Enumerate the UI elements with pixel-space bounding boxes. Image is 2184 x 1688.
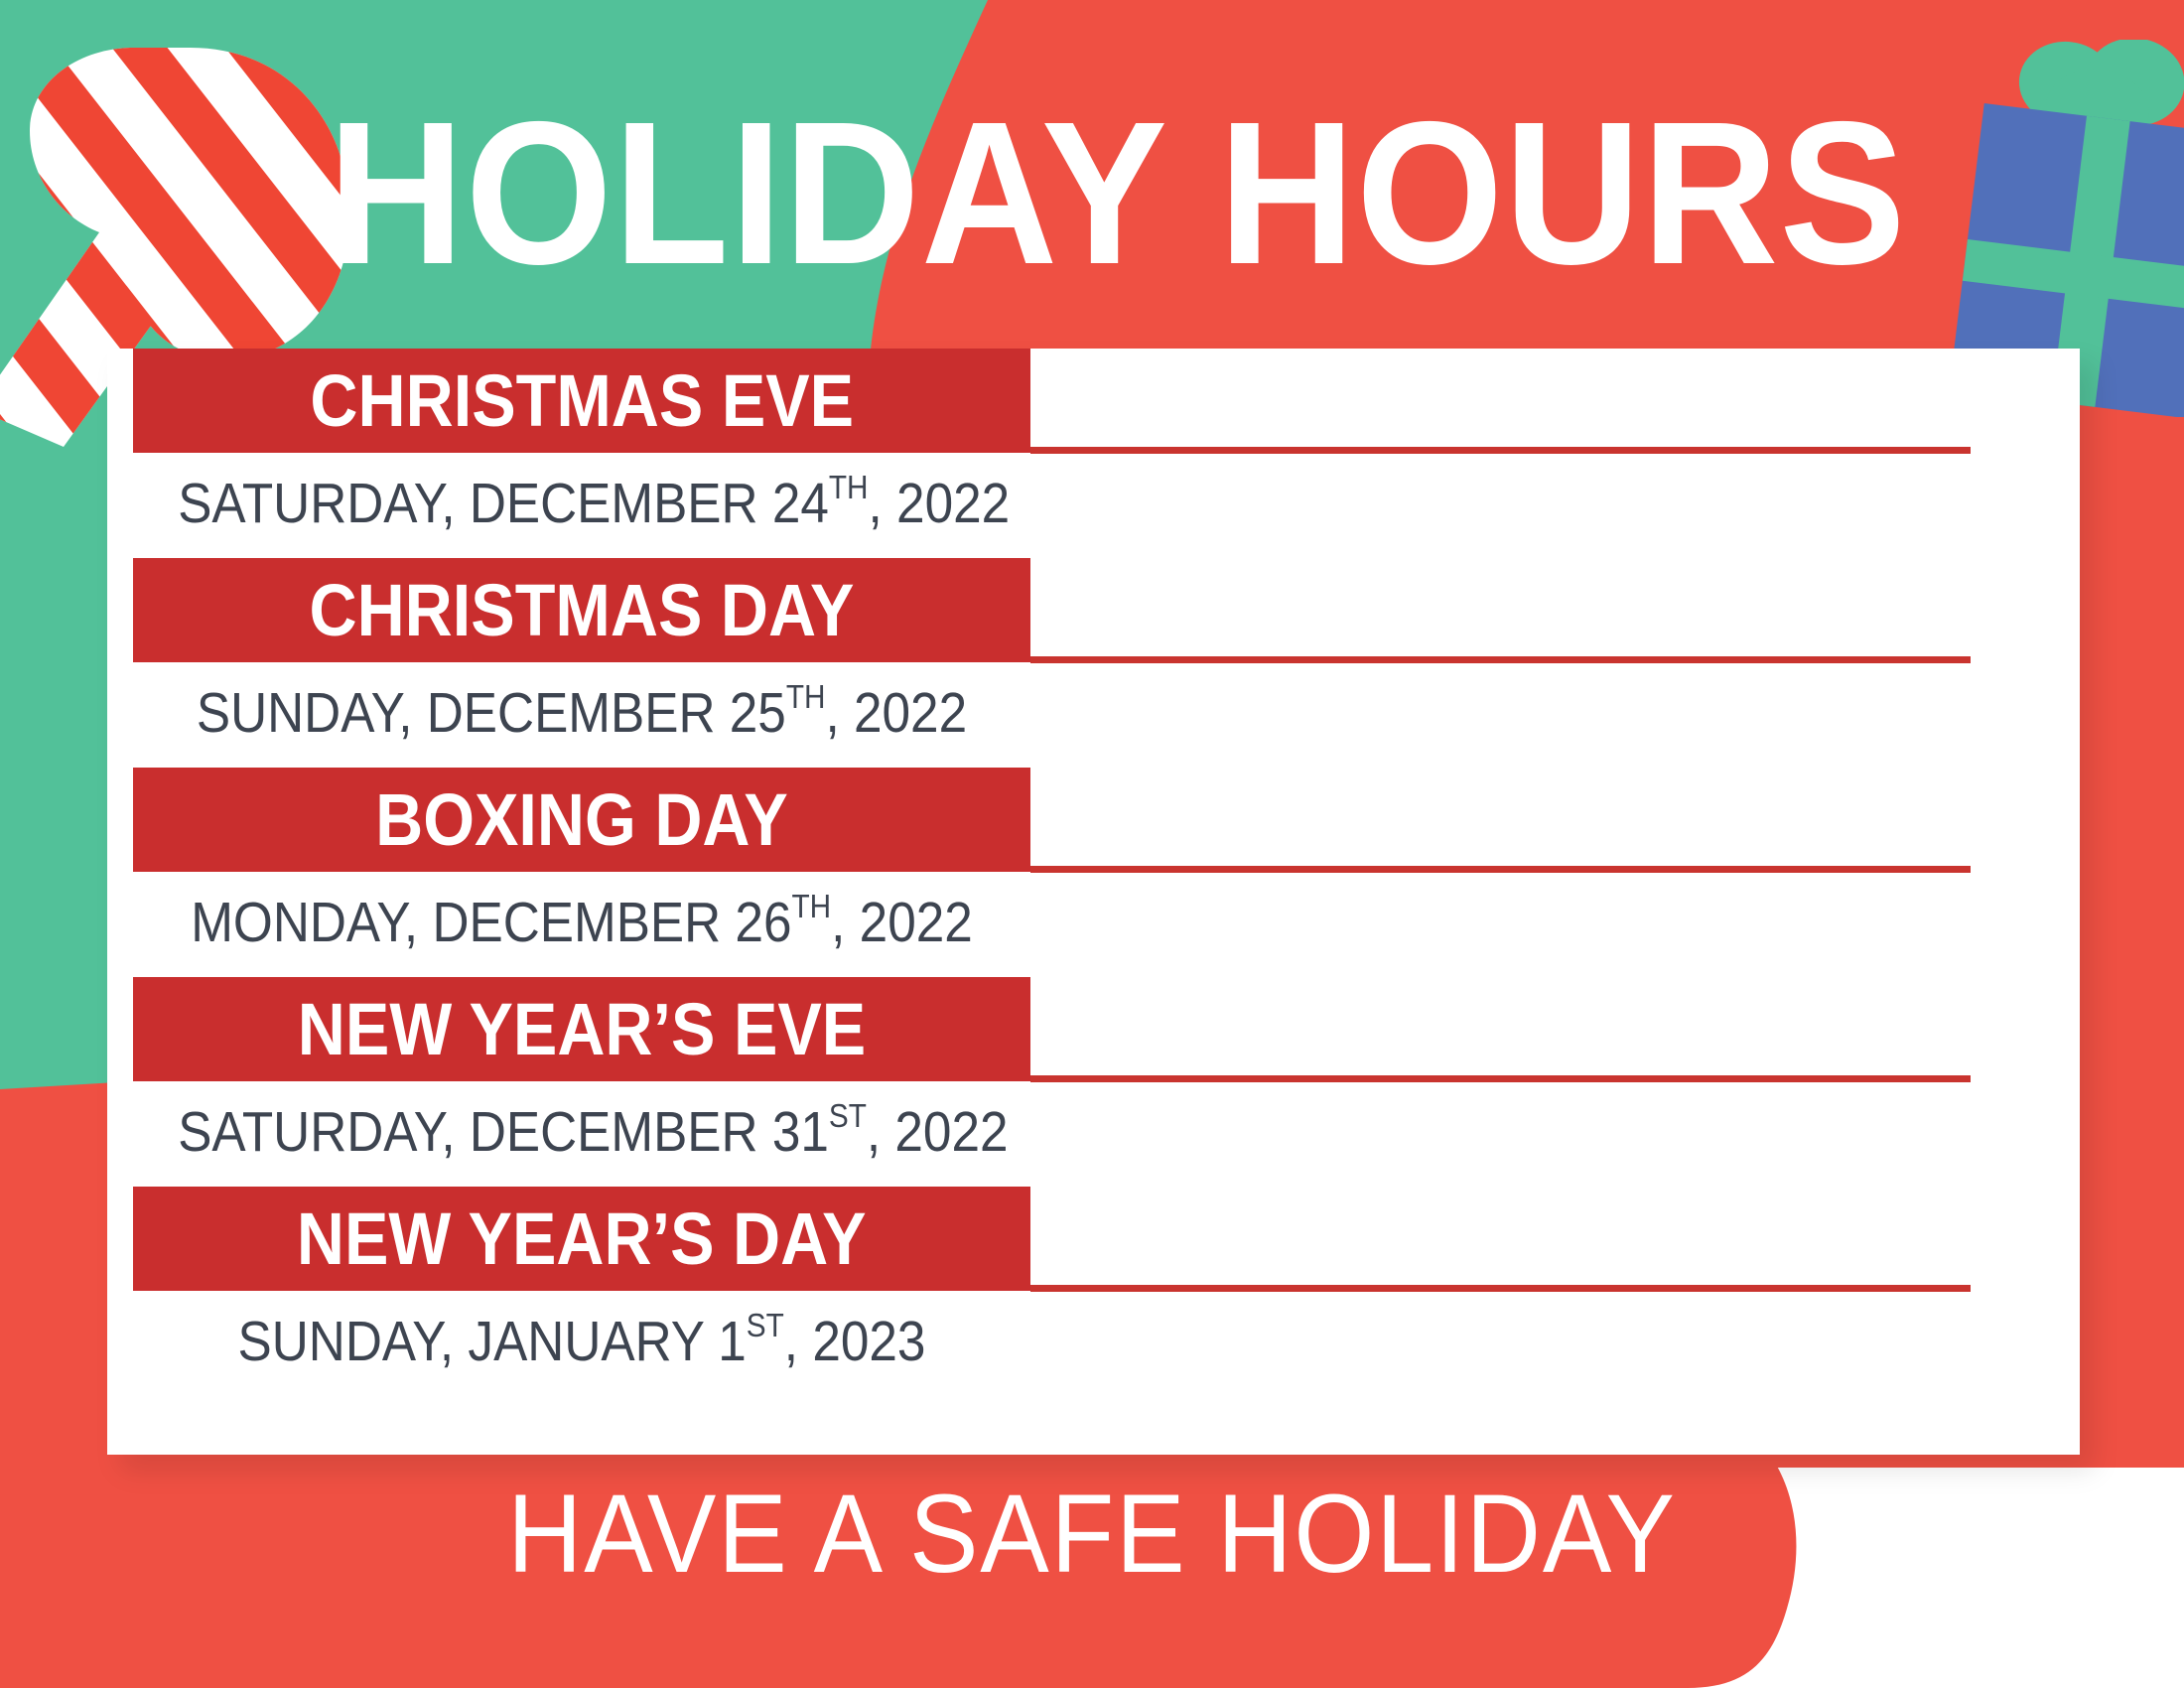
date-prefix: SUNDAY, JANUARY 1 — [238, 1310, 747, 1373]
holiday-date: MONDAY, DECEMBER 26TH, 2022 — [178, 877, 986, 953]
hours-card: CHRISTMAS EVE SATURDAY, DECEMBER 24TH, 2… — [107, 349, 2080, 1455]
date-suffix: , 2022 — [869, 472, 1011, 535]
hours-rule-line — [1030, 447, 1971, 454]
holiday-date: SUNDAY, DECEMBER 25TH, 2022 — [178, 667, 986, 744]
date-ordinal: TH — [829, 470, 869, 506]
holiday-label-bar: NEW YEAR’S EVE — [133, 977, 1030, 1081]
holiday-name: CHRISTMAS EVE — [310, 362, 854, 440]
date-prefix: SUNDAY, DECEMBER 25 — [197, 681, 786, 745]
holiday-hours-poster: HOLIDAY HOURS CHRISTMAS EVE SATURDAY, DE… — [0, 0, 2184, 1688]
holiday-label-bar: CHRISTMAS EVE — [133, 349, 1030, 453]
hours-row: CHRISTMAS DAY SUNDAY, DECEMBER 25TH, 202… — [107, 558, 2080, 768]
hours-rule-line — [1030, 1285, 1971, 1292]
hours-row: NEW YEAR’S EVE SATURDAY, DECEMBER 31ST, … — [107, 977, 2080, 1187]
holiday-name: CHRISTMAS DAY — [310, 572, 855, 649]
hours-row: CHRISTMAS EVE SATURDAY, DECEMBER 24TH, 2… — [107, 349, 2080, 558]
page-title: HOLIDAY HOURS — [328, 94, 1907, 293]
footer-message: HAVE A SAFE HOLIDAY — [76, 1477, 2108, 1592]
date-ordinal: ST — [747, 1308, 784, 1344]
date-suffix: , 2022 — [831, 891, 973, 954]
date-suffix: , 2022 — [867, 1100, 1009, 1164]
holiday-name: NEW YEAR’S DAY — [297, 1200, 867, 1278]
holiday-name: NEW YEAR’S EVE — [298, 991, 866, 1068]
date-suffix: , 2023 — [784, 1310, 926, 1373]
hours-rule-line — [1030, 1075, 1971, 1082]
date-ordinal: TH — [792, 889, 832, 925]
date-prefix: MONDAY, DECEMBER 26 — [191, 891, 791, 954]
date-ordinal: ST — [829, 1098, 867, 1135]
holiday-date: SUNDAY, JANUARY 1ST, 2023 — [178, 1296, 986, 1372]
hours-rule-line — [1030, 656, 1971, 663]
hours-row: NEW YEAR’S DAY SUNDAY, JANUARY 1ST, 2023 — [107, 1187, 2080, 1396]
hours-row: BOXING DAY MONDAY, DECEMBER 26TH, 2022 — [107, 768, 2080, 977]
holiday-date: SATURDAY, DECEMBER 24TH, 2022 — [178, 458, 986, 534]
hours-list: CHRISTMAS EVE SATURDAY, DECEMBER 24TH, 2… — [107, 349, 2080, 1396]
date-prefix: SATURDAY, DECEMBER 31 — [178, 1100, 829, 1164]
holiday-name: BOXING DAY — [375, 781, 788, 859]
holiday-label-bar: NEW YEAR’S DAY — [133, 1187, 1030, 1291]
holiday-label-bar: CHRISTMAS DAY — [133, 558, 1030, 662]
date-prefix: SATURDAY, DECEMBER 24 — [178, 472, 829, 535]
holiday-label-bar: BOXING DAY — [133, 768, 1030, 872]
holiday-date: SATURDAY, DECEMBER 31ST, 2022 — [178, 1086, 986, 1163]
hours-rule-line — [1030, 866, 1971, 873]
date-ordinal: TH — [786, 679, 826, 716]
date-suffix: , 2022 — [825, 681, 967, 745]
